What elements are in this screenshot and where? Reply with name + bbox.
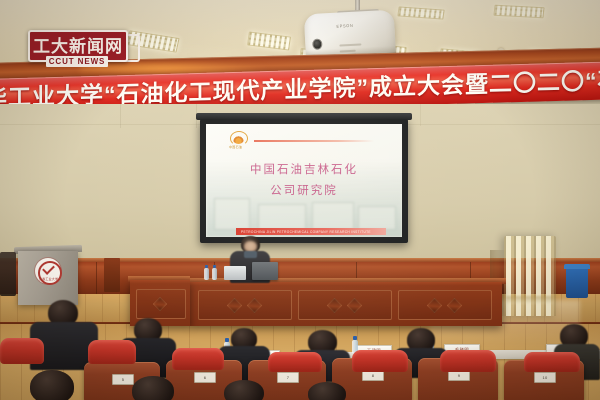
seat-cushion xyxy=(0,338,44,364)
audience-head xyxy=(30,370,74,400)
bottle-cap xyxy=(353,336,357,340)
table-diamond-motif xyxy=(227,298,243,314)
table-diamond-motif xyxy=(327,298,343,314)
emblem-label: 长春工业大学 xyxy=(39,277,58,281)
petrochina-logo-sun xyxy=(233,135,244,144)
table-diamond-motif xyxy=(447,298,463,314)
desk-monitor xyxy=(224,266,246,280)
photo-scene: EPSON 华工业大学“石油化工现代产业学院”成立大会暨二〇二〇“石油化工校企论… xyxy=(0,0,600,400)
trash-bin xyxy=(566,268,588,298)
slide-ghost-box xyxy=(258,204,306,230)
seat-number-plate: 10 xyxy=(534,372,556,383)
petrochina-logo: 中国石油 xyxy=(228,130,250,150)
seat-number-plate: 6 xyxy=(194,372,216,383)
foreground-audience-member xyxy=(300,382,364,400)
audience-head xyxy=(132,376,174,400)
bottle-cap xyxy=(205,265,209,268)
bottle-cap xyxy=(213,265,217,268)
petrochina-logo-label: 中国石油 xyxy=(229,145,242,149)
slide-surface: 中国石油 中国石油吉林石化 公司研究院 PETROCHINA JILIN PET… xyxy=(206,124,402,237)
seat-number: 10 xyxy=(542,375,547,380)
projector-brand-label: EPSON xyxy=(336,23,353,29)
wall-seam xyxy=(420,104,421,126)
slide-ghost-box xyxy=(214,198,250,230)
audience-head xyxy=(224,380,264,400)
seat-cushion xyxy=(524,352,580,372)
lectern: 长春工业大学 xyxy=(18,251,78,305)
seat-cushion xyxy=(440,350,496,372)
watermark-english-text: CCUT NEWS xyxy=(49,58,106,66)
slide-footer-text: PETROCHINA JILIN PETROCHEMICAL COMPANY R… xyxy=(241,230,371,234)
stage-chair xyxy=(0,252,16,296)
seat-number: 7 xyxy=(287,375,290,380)
slide-title-line-2: 公司研究院 xyxy=(206,181,402,202)
table-diamond-motif xyxy=(347,298,363,314)
table-diamond-motif xyxy=(247,298,263,314)
slide-divider-rule xyxy=(254,140,374,142)
wall-seam xyxy=(120,104,121,128)
seat-number: 8 xyxy=(372,373,375,378)
foreground-audience-member xyxy=(18,370,94,400)
projector-vent xyxy=(339,43,361,46)
head-table-panel xyxy=(136,289,186,319)
slide-ghost-box xyxy=(312,202,354,230)
seat-cushion xyxy=(88,340,136,364)
head-table-panel xyxy=(198,290,292,320)
ccut-news-watermark: 工大新闻网 CCUT NEWS xyxy=(28,30,146,66)
water-bottle xyxy=(204,268,209,280)
head-table-panel xyxy=(398,290,492,320)
foreground-audience-member xyxy=(214,380,284,400)
seat-cushion xyxy=(268,352,322,372)
side-table xyxy=(104,258,120,292)
projection-screen: 中国石油 中国石油吉林石化 公司研究院 PETROCHINA JILIN PET… xyxy=(200,119,408,243)
seat-number: 6 xyxy=(204,375,207,380)
trash-bin-lid xyxy=(564,264,590,269)
seat-cushion xyxy=(352,350,408,372)
head-table xyxy=(190,282,502,326)
speaker-collar xyxy=(244,251,257,258)
watermark-english-box: CCUT NEWS xyxy=(46,56,108,67)
university-emblem: 长春工业大学 xyxy=(35,258,61,284)
watermark-chinese-text: 工大新闻网 xyxy=(33,38,123,55)
seat-number: 9 xyxy=(458,373,461,378)
laptop xyxy=(252,262,278,280)
slide-title-block: 中国石油吉林石化 公司研究院 xyxy=(206,160,402,203)
wainscot-seam xyxy=(96,262,97,296)
seat-cushion xyxy=(172,348,224,370)
curtain-tie xyxy=(506,296,554,304)
table-diamond-motif xyxy=(427,298,443,314)
head-table-panel xyxy=(298,290,392,320)
slide-ghost-box xyxy=(358,206,396,230)
slide-footer-bar: PETROCHINA JILIN PETROCHEMICAL COMPANY R… xyxy=(236,228,386,235)
stage-curtain xyxy=(504,236,556,316)
table-diamond-motif xyxy=(153,297,167,311)
projector-lens-icon xyxy=(312,38,323,50)
foreground-audience-member xyxy=(124,376,194,400)
water-bottle xyxy=(212,268,217,280)
slide-title-line-1: 中国石油吉林石化 xyxy=(206,160,402,181)
audience-head xyxy=(308,382,346,400)
